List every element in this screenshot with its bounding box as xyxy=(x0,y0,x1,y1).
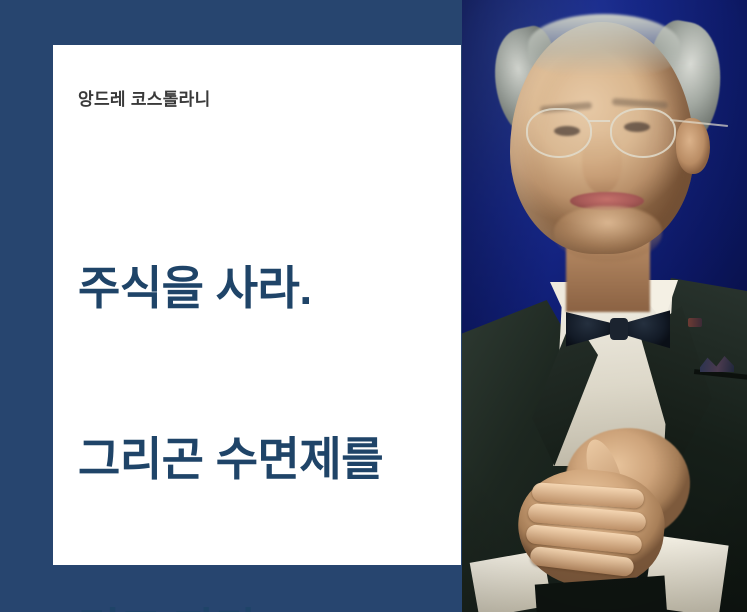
portrait-photo xyxy=(462,0,747,612)
hair-top xyxy=(528,14,680,76)
quote-line-3: 먹고 자라. xyxy=(78,602,431,612)
eyeglasses-icon xyxy=(522,108,692,158)
quote-line-1: 주식을 사라. xyxy=(78,260,431,317)
quote-line-2: 그리곤 수면제를 xyxy=(78,431,431,488)
lens-left xyxy=(526,108,592,158)
lens-right xyxy=(610,108,676,158)
bow-tie xyxy=(566,306,670,352)
quote-text: 주식을 사라. 그리곤 수면제를 먹고 자라. 10년뒤에 깨어 나면 부자가 … xyxy=(78,146,431,612)
quote-attribution: 앙드레 코스톨라니 xyxy=(78,85,431,110)
bow-tie-knot xyxy=(610,318,628,340)
chin xyxy=(554,206,662,262)
glasses-bridge xyxy=(588,120,610,122)
quote-card: 앙드레 코스톨라니 주식을 사라. 그리곤 수면제를 먹고 자라. 10년뒤에 … xyxy=(53,45,461,565)
lapel-pin xyxy=(688,318,702,327)
quote-poster: 앙드레 코스톨라니 주식을 사라. 그리곤 수면제를 먹고 자라. 10년뒤에 … xyxy=(0,0,747,612)
